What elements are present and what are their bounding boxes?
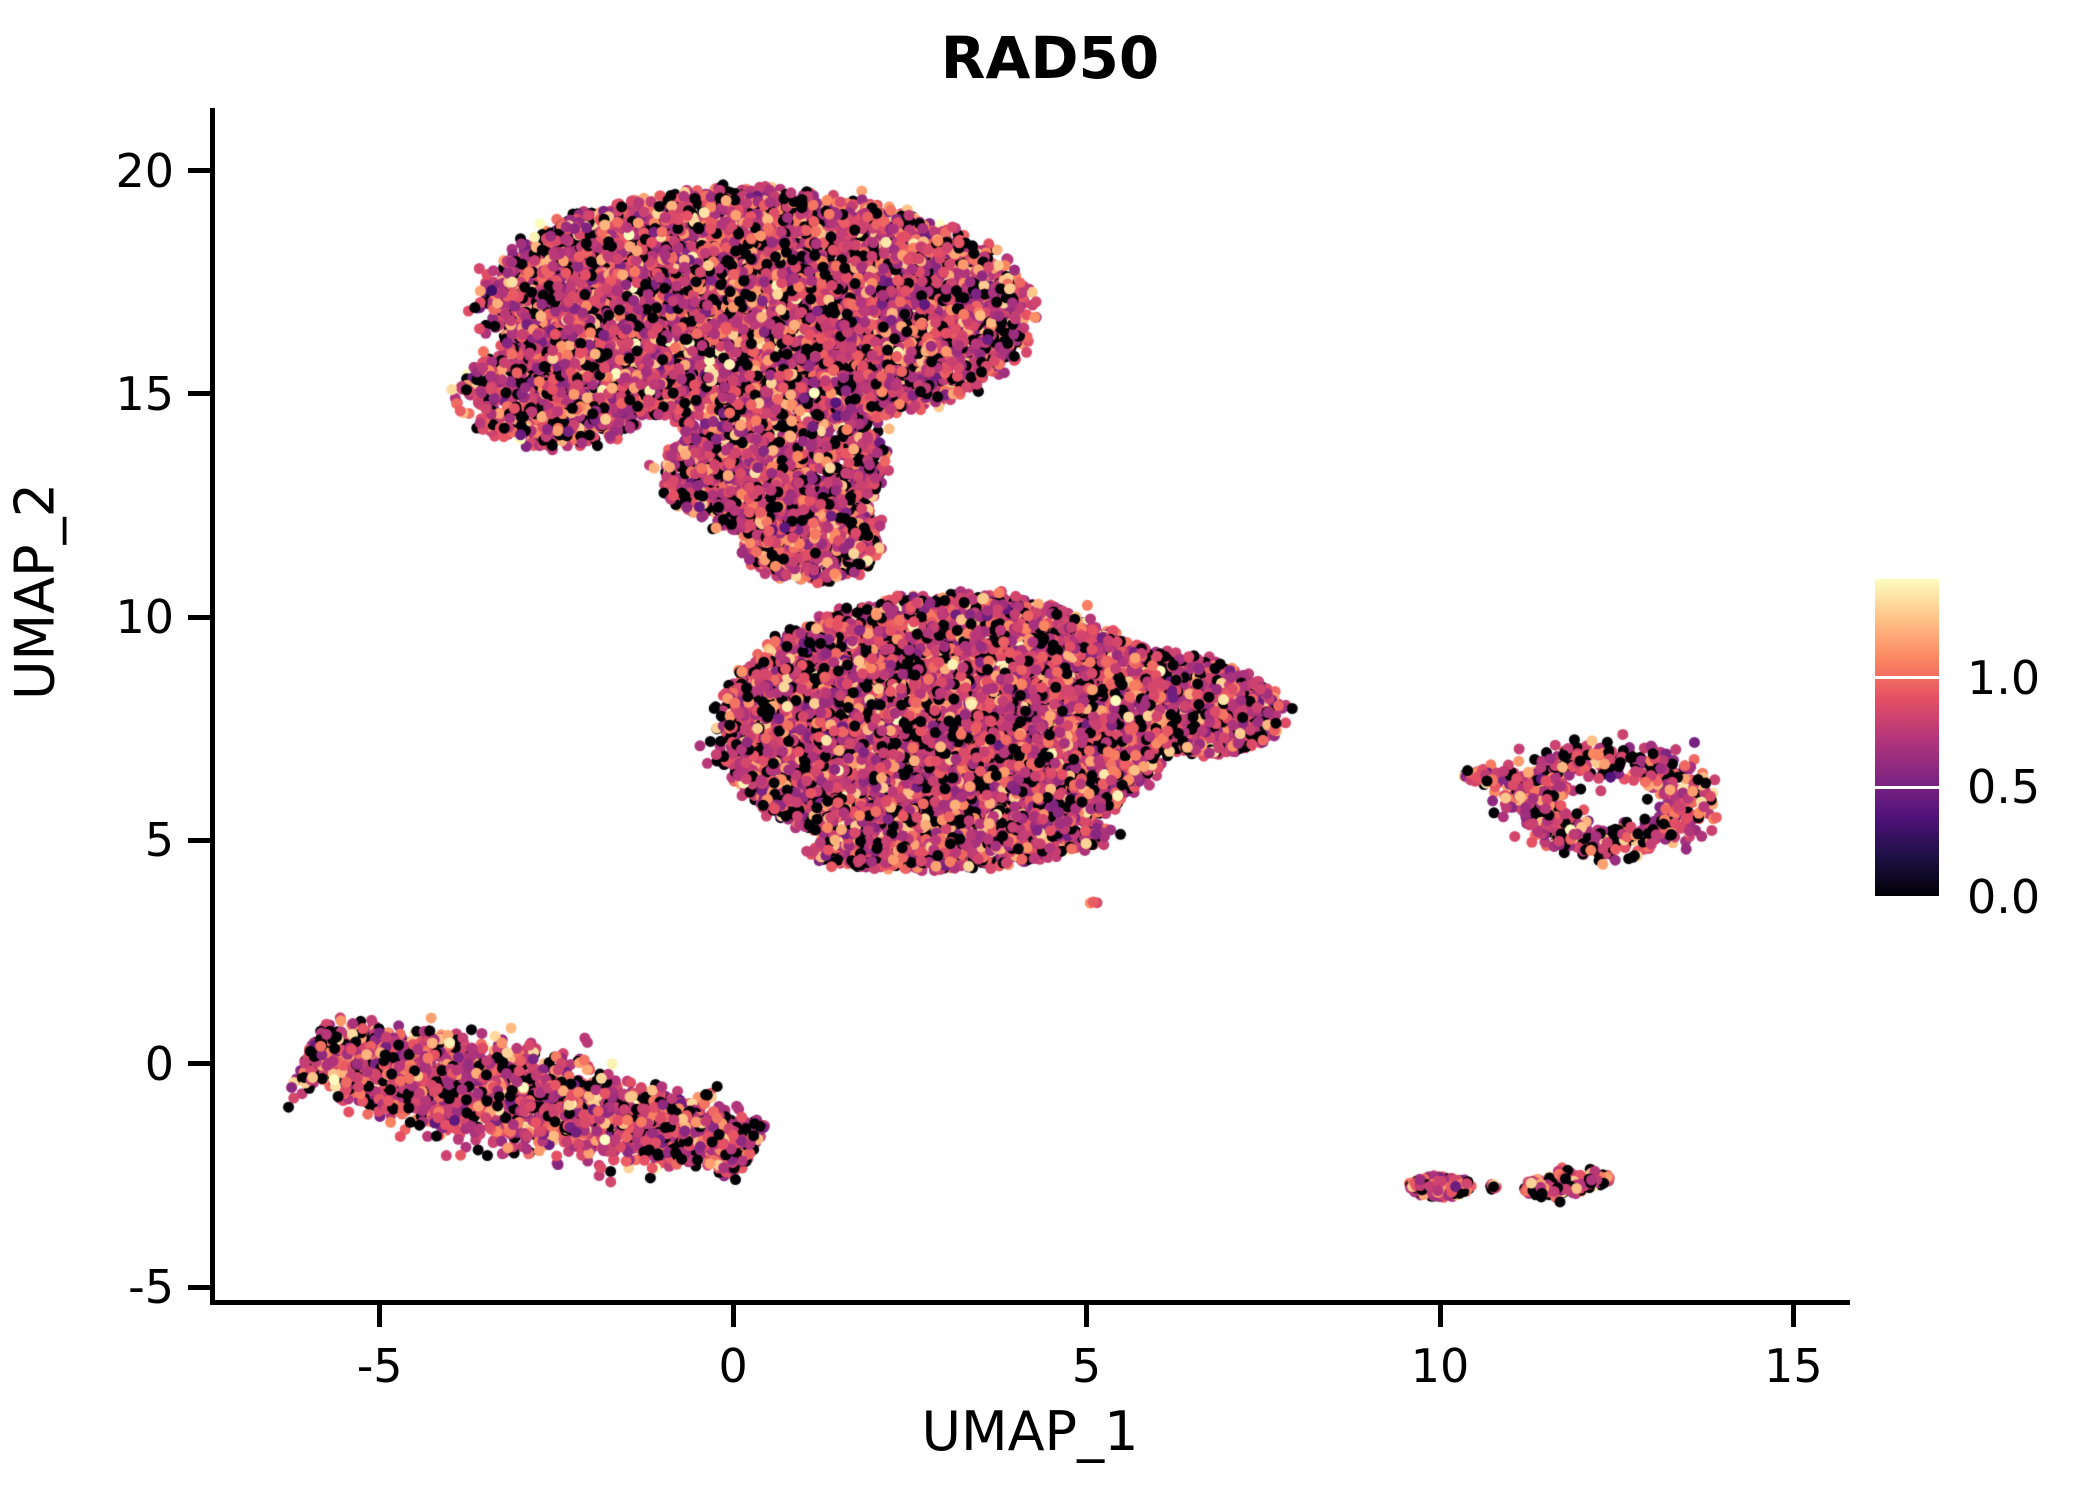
colorbar-tick-label: 1.0 xyxy=(1967,651,2040,705)
y-axis-label: UMAP_2 xyxy=(4,312,67,872)
y-tick-mark xyxy=(188,615,210,620)
y-tick-mark xyxy=(188,1061,210,1066)
umap-feature-plot-figure: RAD50 -505101520 -5051015 UMAP_1 UMAP_2 … xyxy=(0,0,2100,1500)
x-tick-label: 5 xyxy=(1072,1339,1101,1393)
x-tick-mark xyxy=(377,1305,382,1327)
x-tick-label: 15 xyxy=(1764,1339,1823,1393)
colorbar-tick-mark xyxy=(1875,786,1939,789)
x-tick-mark xyxy=(731,1305,736,1327)
x-tick-label: 10 xyxy=(1411,1339,1470,1393)
y-tick-label: 0 xyxy=(145,1037,174,1091)
colorbar: 0.00.51.0 xyxy=(1875,579,1939,897)
colorbar-gradient xyxy=(1875,579,1939,897)
x-axis-spine xyxy=(210,1300,1850,1305)
y-tick-mark xyxy=(188,1285,210,1290)
colorbar-tick-mark xyxy=(1875,896,1939,899)
scatter-points-canvas xyxy=(210,108,1850,1305)
colorbar-tick-mark xyxy=(1875,676,1939,679)
y-tick-label: -5 xyxy=(128,1260,174,1314)
x-tick-mark xyxy=(1791,1305,1796,1327)
y-tick-mark xyxy=(188,391,210,396)
page-title: RAD50 xyxy=(0,24,2100,92)
x-tick-label: 0 xyxy=(718,1339,747,1393)
x-tick-label: -5 xyxy=(357,1339,403,1393)
y-tick-mark xyxy=(188,838,210,843)
y-tick-label: 20 xyxy=(115,144,174,198)
y-tick-label: 5 xyxy=(145,813,174,867)
plot-axes: -505101520 -5051015 xyxy=(210,108,1850,1305)
y-tick-label: 10 xyxy=(115,590,174,644)
x-tick-mark xyxy=(1438,1305,1443,1327)
y-tick-label: 15 xyxy=(115,367,174,421)
colorbar-tick-label: 0.0 xyxy=(1967,870,2040,924)
x-tick-mark xyxy=(1084,1305,1089,1327)
y-axis-spine xyxy=(210,108,215,1305)
y-tick-mark xyxy=(188,168,210,173)
x-axis-label: UMAP_1 xyxy=(210,1400,1850,1463)
colorbar-tick-label: 0.5 xyxy=(1967,760,2040,814)
